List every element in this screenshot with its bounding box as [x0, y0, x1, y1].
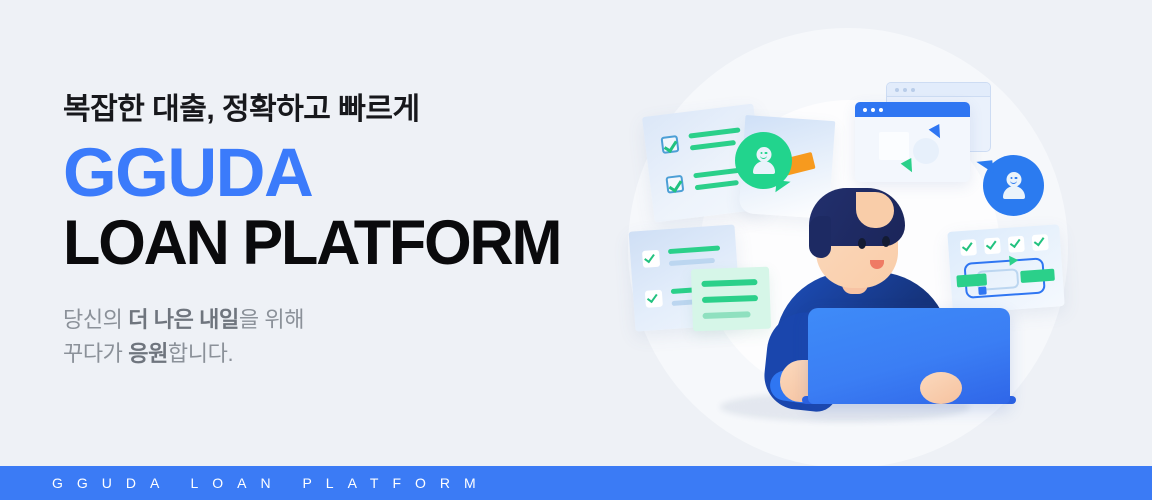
mint-note-card-icon: [691, 267, 771, 332]
tagline-line1-strong: 더 나은 내일: [128, 307, 239, 332]
hero-eyebrow: 복잡한 대출, 정확하고 빠르게: [63, 92, 623, 128]
checkbox-icon: [960, 239, 977, 256]
hero-copy-block: 복잡한 대출, 정확하고 빠르게 GGUDA LOAN PLATFORM 당신의…: [63, 92, 623, 371]
workflow-card-icon: [947, 224, 1064, 314]
checkbox-icon: [1008, 236, 1025, 253]
person-hand-right: [920, 372, 962, 404]
product-title: LOAN PLATFORM: [63, 212, 606, 275]
checkbox-icon: [642, 250, 660, 268]
person-eye-left: [858, 238, 866, 249]
browser-window-front-icon: [855, 102, 970, 182]
brand-title: GGUDA: [63, 140, 623, 206]
checkbox-icon: [661, 135, 680, 154]
checkbox-icon: [984, 237, 1001, 254]
bottom-ribbon: GGUDA LOAN PLATFORM: [0, 466, 1152, 500]
person-eye-right: [882, 236, 890, 247]
checkbox-icon: [665, 175, 684, 194]
tagline-line2-strong: 응원: [128, 341, 168, 366]
checkbox-icon: [1032, 234, 1049, 251]
laptop-icon: [808, 308, 1010, 404]
tagline-line2-prefix: 꾸다가: [63, 341, 128, 366]
tagline-line1-prefix: 당신의: [63, 307, 128, 332]
hero-illustration: [620, 20, 1090, 460]
avatar-bubble-green-icon: [735, 132, 792, 189]
checkbox-icon: [645, 290, 663, 308]
tagline-line-1: 당신의 더 나은 내일을 위해: [63, 303, 623, 337]
person-hair-fringe: [856, 192, 894, 228]
person-hair-side: [809, 216, 831, 258]
tagline-line2-suffix: 합니다.: [168, 341, 233, 366]
tagline-line1-suffix: 을 위해: [239, 307, 304, 332]
tagline-line-2: 꾸다가 응원합니다.: [63, 337, 623, 371]
hero-banner: 복잡한 대출, 정확하고 빠르게 GGUDA LOAN PLATFORM 당신의…: [0, 0, 1152, 500]
hero-tagline: 당신의 더 나은 내일을 위해 꾸다가 응원합니다.: [63, 303, 623, 371]
avatar-bubble-blue-icon: [983, 155, 1044, 216]
ribbon-text: GGUDA LOAN PLATFORM: [0, 475, 490, 491]
